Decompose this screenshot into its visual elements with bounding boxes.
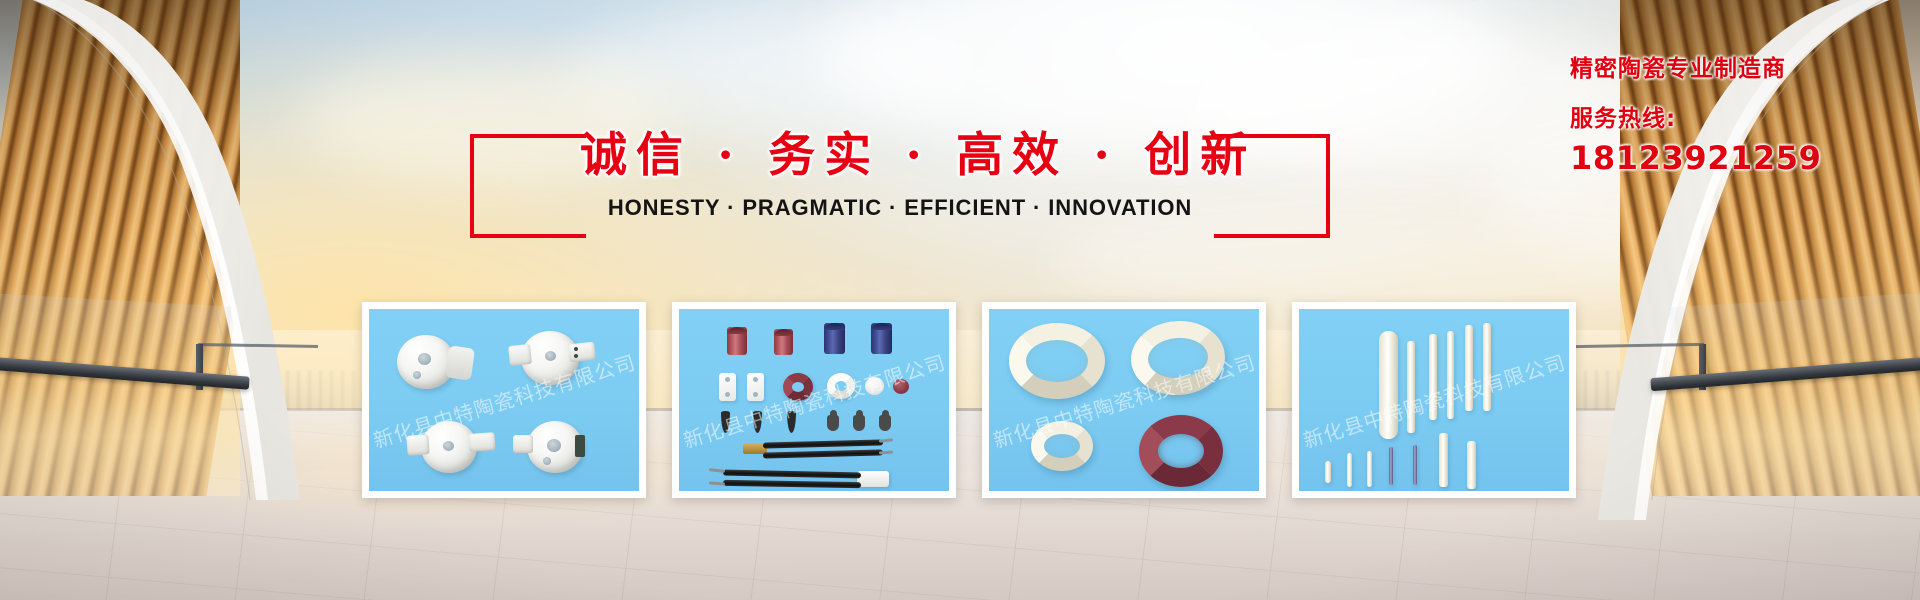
- ceramic-rod: [1447, 331, 1454, 419]
- ceramic-disc: [865, 377, 884, 395]
- hero-banner: 诚信 · 务实 · 高效 · 创新 HONESTY · PRAGMATIC · …: [0, 0, 1920, 600]
- ceramic-plate: [719, 373, 736, 401]
- wire-connector-white: [857, 471, 889, 487]
- ceramic-rod-thick: [1379, 331, 1398, 439]
- ceramic-tube-red: [727, 327, 747, 355]
- contact-blade: [721, 411, 730, 433]
- ceramic-pin: [1347, 453, 1352, 487]
- wire-black: [763, 449, 883, 458]
- socket-tab: [568, 342, 596, 363]
- ceramic-ring-small: [1031, 421, 1093, 471]
- company-tagline: 精密陶瓷专业制造商: [1570, 56, 1822, 84]
- panel-image-area: 新化县中特陶瓷科技有限公司: [1299, 309, 1569, 491]
- panel-image-area: 新化县中特陶瓷科技有限公司: [679, 309, 949, 491]
- wire-lead: [709, 468, 725, 473]
- slogan-chinese: 诚信 · 务实 · 高效 · 创新: [580, 132, 1220, 179]
- ceramic-rod: [1429, 334, 1437, 420]
- ceramic-pin-purple: [1413, 445, 1417, 485]
- wire-lead: [879, 438, 893, 442]
- ceramic-ring-white: [827, 373, 855, 399]
- socket-pin-block: [575, 435, 585, 457]
- ceramic-rod: [1407, 341, 1415, 433]
- ceramic-disc-maroon: [893, 379, 909, 394]
- panel-image-area: 新化县中特陶瓷科技有限公司: [369, 309, 639, 491]
- ceramic-pin: [1467, 441, 1476, 489]
- wire-black: [763, 439, 883, 448]
- ceramic-pin: [1325, 461, 1331, 483]
- hotline-label: 服务热线:: [1570, 106, 1822, 134]
- hotline-phone-number[interactable]: 18123921259: [1570, 139, 1822, 177]
- socket-pin: [574, 347, 578, 351]
- product-panel-ceramic-rods[interactable]: 新化县中特陶瓷科技有限公司: [1292, 302, 1576, 498]
- ceramic-pin-purple: [1389, 447, 1393, 485]
- wire-lead: [709, 481, 725, 485]
- ceramic-ring-maroon: [1139, 415, 1223, 487]
- product-panel-ceramic-tubes[interactable]: 新化县中特陶瓷科技有限公司: [672, 302, 956, 498]
- socket-pin: [574, 354, 578, 358]
- slogan-english: HONESTY · PRAGMATIC · EFFICIENT · INNOVA…: [580, 195, 1220, 221]
- ceramic-rod: [1483, 323, 1491, 411]
- socket-tab: [468, 432, 495, 452]
- ceramic-ring-large: [1009, 323, 1105, 399]
- ceramic-plate: [747, 373, 764, 401]
- bracket-left-icon: [470, 134, 586, 238]
- contact-blade: [787, 411, 796, 433]
- product-panel-ceramic-rings[interactable]: 新化县中特陶瓷科技有限公司: [982, 302, 1266, 498]
- product-panel-lamp-sockets[interactable]: 新化县中特陶瓷科技有限公司: [362, 302, 646, 498]
- socket-hole: [418, 353, 431, 365]
- panel-image-area: 新化县中特陶瓷科技有限公司: [989, 309, 1259, 491]
- socket-hole: [413, 371, 421, 379]
- contact-clip: [827, 415, 839, 431]
- ceramic-rod: [1465, 325, 1473, 411]
- product-panel-row: 新化县中特陶瓷科技有限公司: [0, 302, 1920, 502]
- socket-hole: [543, 457, 551, 465]
- contact-info-block: 精密陶瓷专业制造商 服务热线: 18123921259: [1570, 56, 1822, 178]
- socket-hole: [443, 441, 454, 451]
- socket-tab: [513, 435, 533, 453]
- wire-lead: [879, 451, 893, 455]
- socket-hole: [545, 351, 556, 361]
- contact-clip: [853, 415, 865, 431]
- socket-body: [445, 345, 475, 380]
- socket-hole: [547, 439, 561, 452]
- ceramic-pin: [1367, 451, 1372, 487]
- wire-black: [723, 480, 861, 488]
- ceramic-ring-maroon: [783, 373, 813, 401]
- contact-clip: [879, 415, 891, 431]
- contact-blade: [753, 411, 762, 433]
- slogan-block: 诚信 · 务实 · 高效 · 创新 HONESTY · PRAGMATIC · …: [580, 132, 1220, 221]
- ceramic-ring-large: [1129, 318, 1228, 398]
- socket-tab: [406, 434, 429, 455]
- ceramic-tube-blue: [824, 323, 845, 354]
- ceramic-pin: [1439, 433, 1448, 487]
- socket-tab: [508, 344, 532, 366]
- ceramic-tube-red: [774, 329, 793, 355]
- wire-black: [723, 470, 861, 479]
- bracket-right-icon: [1214, 134, 1330, 238]
- ceramic-tube-blue: [871, 323, 892, 354]
